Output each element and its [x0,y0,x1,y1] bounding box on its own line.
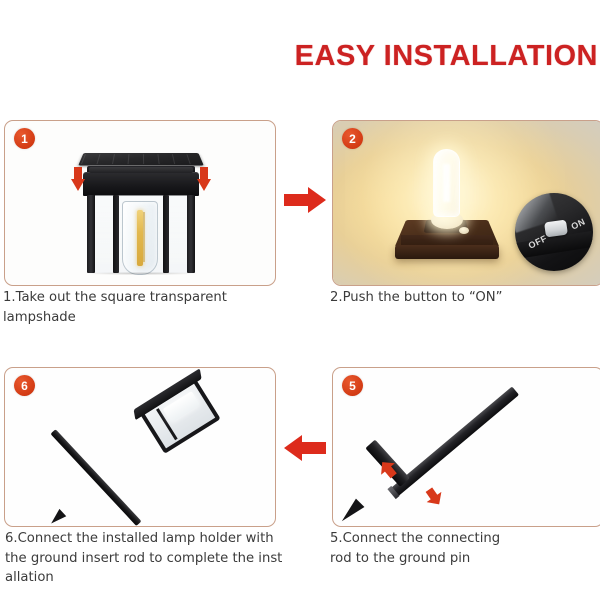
step-caption-5: 5.Connect the connecting rod to the grou… [330,529,600,568]
arrow-left-icon [284,434,326,467]
lantern-post-left [87,195,95,273]
step-panel-5: 5 [332,367,600,527]
lit-bulb-illustration [385,143,515,273]
ground-pin-tip [338,499,365,526]
switch-closeup-inset: OFF ON [515,193,593,271]
switch-on-label: ON [570,216,587,231]
small-arrow-down-icon [421,484,446,509]
ground-stake-rod [50,429,141,526]
light-bulb-icon [433,149,460,217]
filament-wire [143,212,145,262]
step-badge-1: 1 [14,128,35,149]
arrow-right-icon [284,186,326,219]
solar-lantern-illustration [65,139,215,285]
lantern-post-right-mid [163,195,169,273]
connecting-rod [389,386,519,497]
power-button[interactable] [459,227,469,234]
lamp-base-plinth [395,245,499,259]
step-badge-2: 2 [342,128,363,149]
page-title: EASY INSTALLATION [295,40,598,73]
step-panel-1: 1 [4,120,276,286]
step-panel-6: 6 [4,367,276,527]
solar-panel-icon [78,153,203,165]
step-panel-2: 2 OFF ON [332,120,600,286]
lantern-post-left-mid [113,195,119,273]
step-badge-6: 6 [14,375,35,396]
lamp-holder-head [139,378,220,454]
lantern-post-right [187,195,195,273]
ground-shadow [85,272,197,275]
arrow-right-glyph [284,186,326,214]
arrow-left-glyph [284,434,326,462]
rocker-switch[interactable] [544,220,568,238]
step-caption-2: 2.Push the button to “ON” [330,288,600,308]
header-bar: EASY INSTALLATION [0,0,600,108]
ground-stake-tip [48,509,67,527]
transparent-lampshade-tube [122,201,158,275]
down-arrow-right-icon [197,167,211,191]
step-caption-1: 1.Take out the square transparent lampsh… [3,288,283,327]
step-caption-6: 6.Connect the installed lamp holder with… [5,529,290,588]
lamp-cap [83,172,199,196]
down-arrow-left-icon [71,167,85,191]
step-badge-5: 5 [342,375,363,396]
